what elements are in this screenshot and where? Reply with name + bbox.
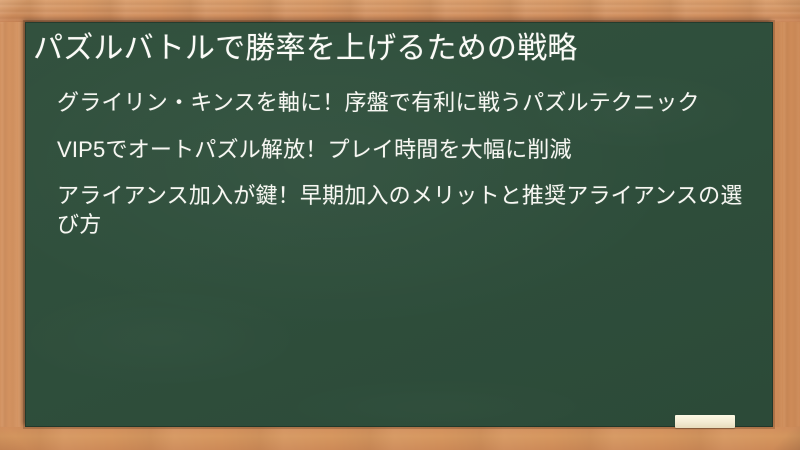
chalkboard: パズルバトルで勝率を上げるための戦略 グライリン・キンスを軸に！序盤で有利に戦う…: [25, 22, 773, 427]
list-item[interactable]: VIP5でオートパズル解放！プレイ時間を大幅に削減: [57, 136, 743, 165]
article-list: グライリン・キンスを軸に！序盤で有利に戦うパズルテクニック VIP5でオートパズ…: [33, 89, 743, 239]
list-item[interactable]: アライアンス加入が鍵！早期加入のメリットと推奨アライアンスの選び方: [57, 182, 743, 239]
board-content: パズルバトルで勝率を上げるための戦略 グライリン・キンスを軸に！序盤で有利に戦う…: [25, 22, 773, 240]
frame-rail-bottom-tray: [0, 427, 800, 450]
frame-corner-top-left: [0, 0, 26, 24]
frame-corner-bottom-left: [0, 426, 26, 450]
frame-corner-bottom-right: [774, 426, 800, 450]
page-title: パズルバトルで勝率を上げるための戦略: [33, 30, 743, 67]
chalk-stick: [675, 415, 735, 428]
wooden-frame: パズルバトルで勝率を上げるための戦略 グライリン・キンスを軸に！序盤で有利に戦う…: [0, 0, 800, 450]
list-item[interactable]: グライリン・キンスを軸に！序盤で有利に戦うパズルテクニック: [57, 89, 743, 118]
frame-corner-top-right: [774, 0, 800, 24]
frame-rail-top: [0, 0, 800, 22]
